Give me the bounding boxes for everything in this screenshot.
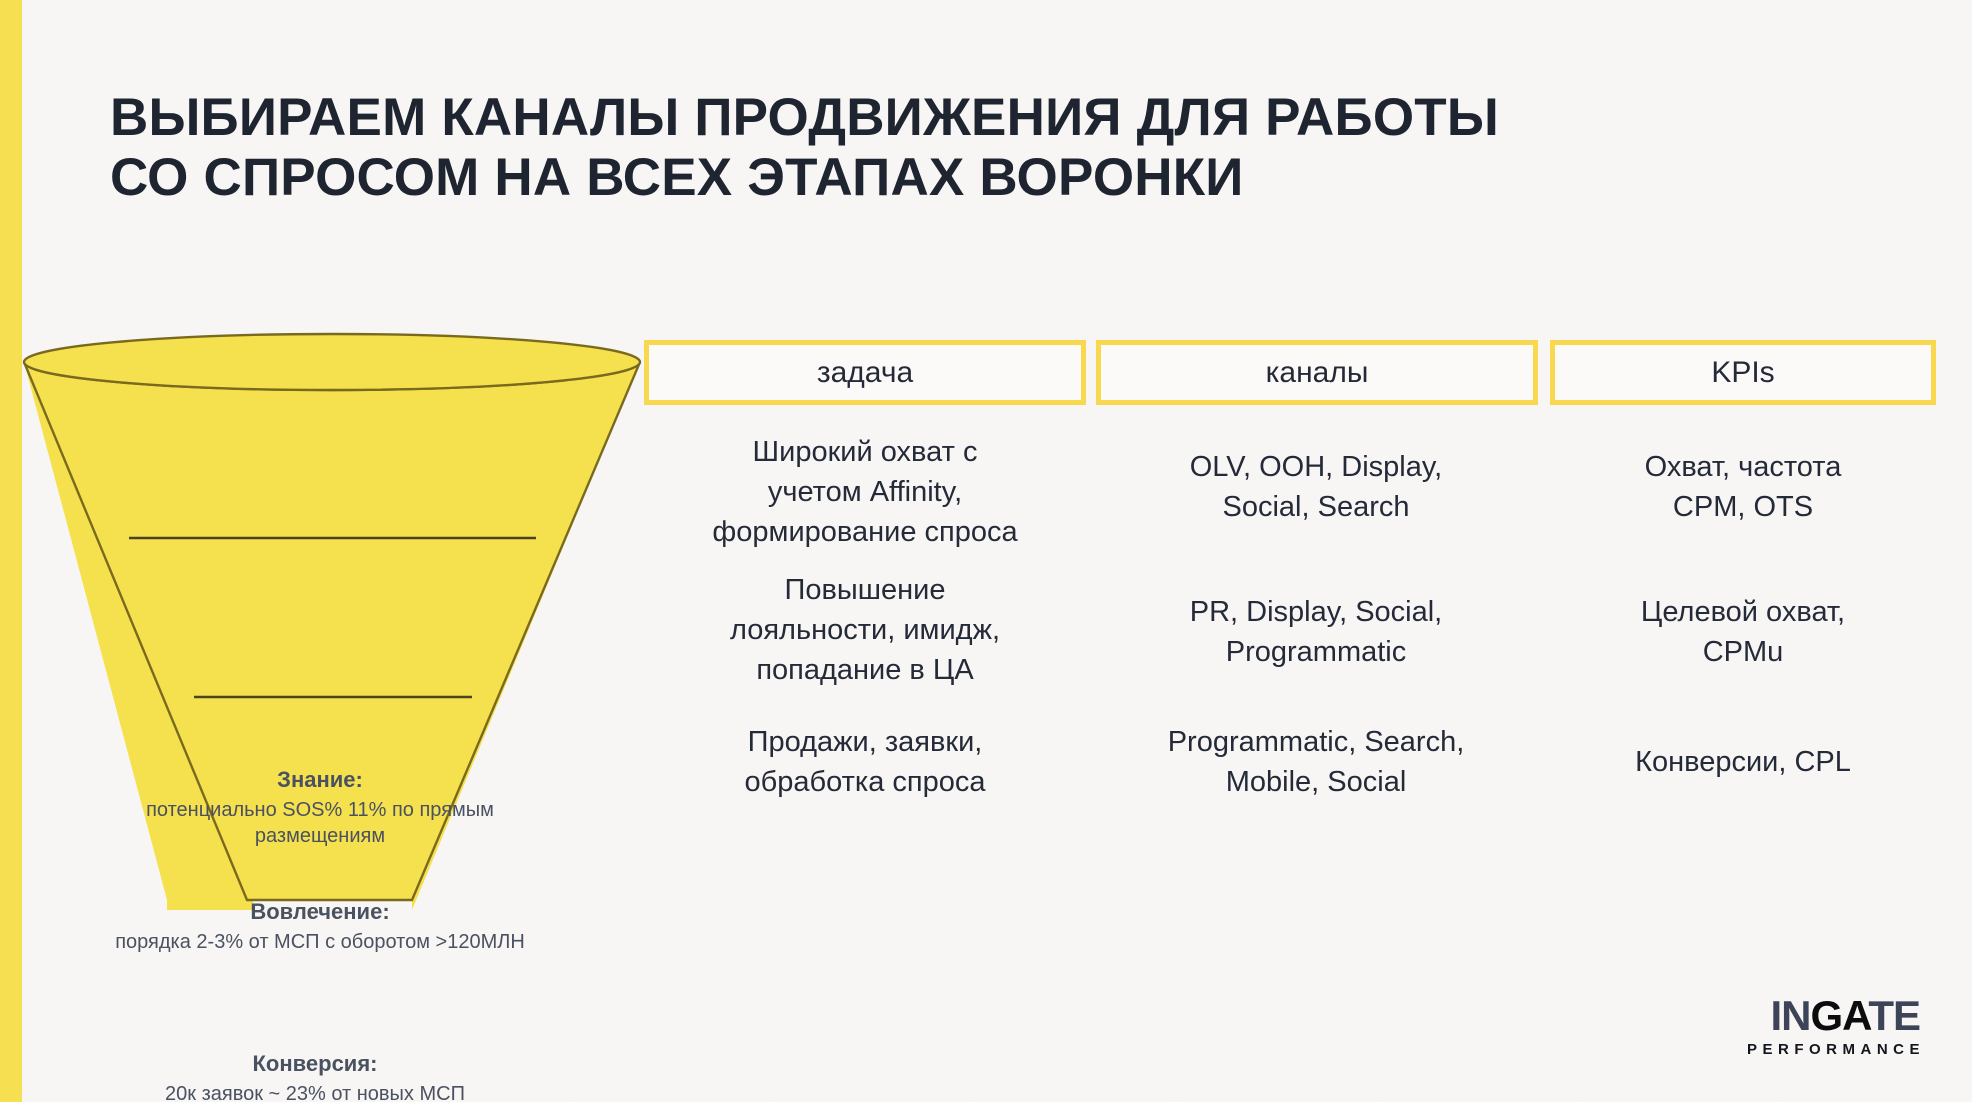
cell-kpis-row-3: Конверсии, CPL xyxy=(1546,742,1940,782)
page-title-line-2: со спросом на всех этапах воронки xyxy=(110,148,1750,208)
cell-task-row-1: Широкий охват с учетом Affinity, формиро… xyxy=(600,432,1130,552)
cell-task-row-2: Повышение лояльности, имидж, попадание в… xyxy=(600,570,1130,690)
cell-channels-row-2: PR, Display, Social, Programmatic xyxy=(1086,592,1546,672)
column-header-kanaly-label: каналы xyxy=(1266,356,1369,390)
page-title-line-1: Выбираем каналы продвижения для работы xyxy=(110,88,1750,148)
logo-wordmark-part-1: IN xyxy=(1770,992,1810,1039)
column-header-zadacha: задача xyxy=(644,340,1086,405)
cell-channels-row-3: Programmatic, Search, Mobile, Social xyxy=(1086,722,1546,802)
cell-kpis-row-2: Целевой охват, CPMu xyxy=(1546,592,1940,672)
funnel-stage-vovlechenie-body: порядка 2-3% от МСП с оборотом >120МЛН xyxy=(110,929,530,955)
funnel-svg xyxy=(0,330,660,930)
column-header-kpis: KPIs xyxy=(1550,340,1936,405)
column-header-kpis-label: KPIs xyxy=(1711,356,1774,390)
ingate-performance-logo: INGATE PERFORMANCE xyxy=(1747,994,1920,1058)
cell-channels-row-1: OLV, OOH, Display, Social, Search xyxy=(1086,447,1546,527)
logo-subtitle: PERFORMANCE xyxy=(1747,1041,1925,1058)
cell-kpis-row-1: Охват, частота CPM, OTS xyxy=(1546,447,1940,527)
logo-wordmark-part-2: GA xyxy=(1810,992,1868,1039)
funnel-stage-konversiya-body: 20к заявок ~ 23% от новых МСП xyxy=(150,1081,480,1102)
logo-wordmark-part-3: TE xyxy=(1868,992,1920,1039)
funnel-stage-konversiya-title: Конверсия: xyxy=(150,1050,480,1079)
funnel-diagram: Знание: потенциально SOS% 11% по прямым … xyxy=(0,330,660,930)
logo-wordmark: INGATE xyxy=(1747,994,1920,1038)
page-title: Выбираем каналы продвижения для работы с… xyxy=(110,88,1750,208)
column-header-kanaly: каналы xyxy=(1096,340,1538,405)
cell-task-row-3: Продажи, заявки, обработка спроса xyxy=(600,722,1130,802)
column-header-zadacha-label: задача xyxy=(817,356,913,390)
funnel-stage-konversiya: Конверсия: 20к заявок ~ 23% от новых МСП xyxy=(150,1050,480,1102)
